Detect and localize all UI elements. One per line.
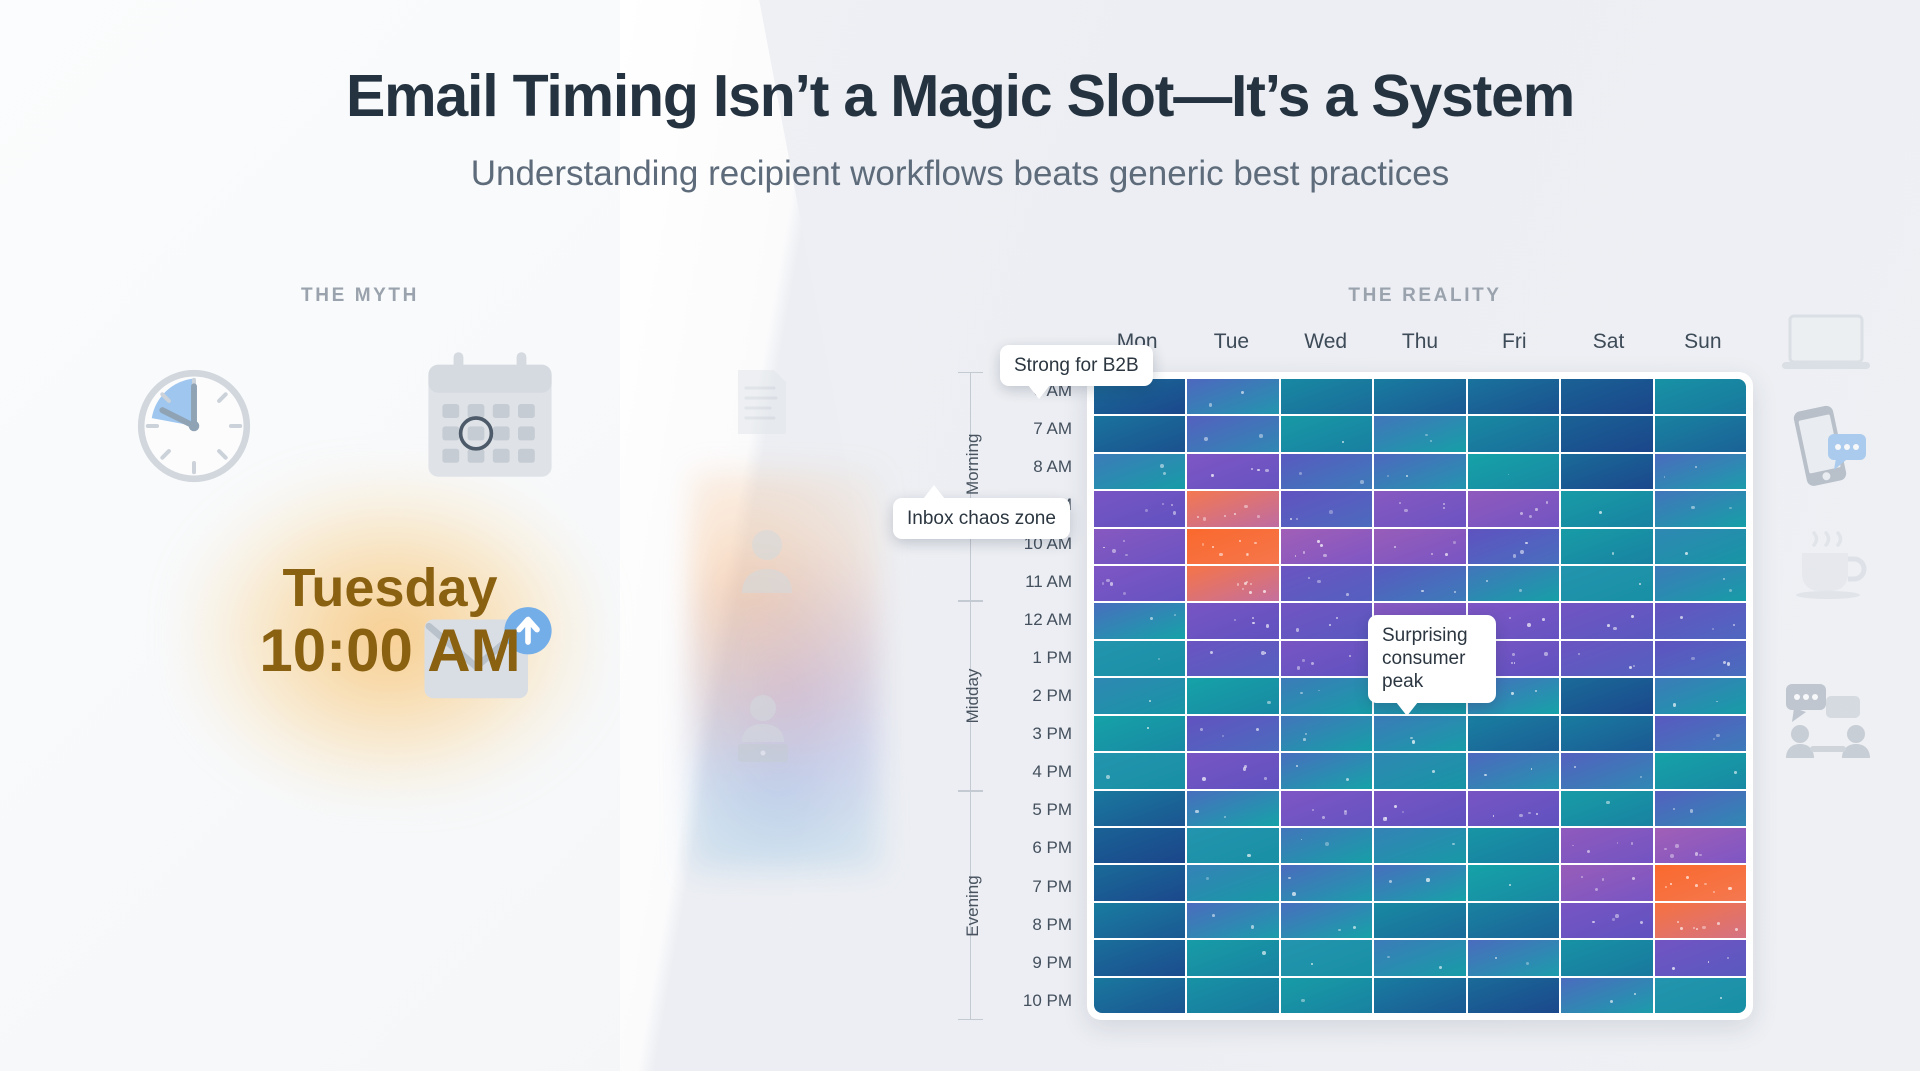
heatmap-speckle <box>1303 738 1306 741</box>
heatmap-day-label: Thu <box>1373 330 1467 354</box>
heatmap-speckle <box>1292 892 1296 896</box>
myth-panel: Tuesday 10:00 AM <box>60 360 720 920</box>
heatmap-speckle <box>1685 552 1688 555</box>
heatmap-cell[interactable] <box>1655 678 1746 713</box>
heatmap-cell[interactable] <box>1187 978 1278 1013</box>
heatmap-cell[interactable] <box>1561 978 1652 1013</box>
heatmap-speckle <box>1723 578 1725 580</box>
heatmap-cell[interactable] <box>1094 903 1185 938</box>
callout-strong-for-b2b[interactable]: Strong for B2B <box>1000 345 1153 386</box>
heatmap-speckle <box>1613 627 1616 630</box>
heatmap-cell[interactable] <box>1374 491 1465 526</box>
heatmap-cell[interactable] <box>1561 566 1652 601</box>
heatmap-cell[interactable] <box>1187 678 1278 713</box>
heatmap-speckle <box>1602 878 1605 881</box>
heatmap-speckle <box>1252 617 1254 619</box>
heatmap-speckle <box>1394 546 1396 548</box>
heatmap-speckle <box>1158 658 1160 660</box>
heatmap-speckle <box>1243 767 1246 770</box>
heatmap-cell[interactable] <box>1655 603 1746 638</box>
heatmap-cell[interactable] <box>1561 641 1652 676</box>
heatmap-speckle <box>1665 886 1667 888</box>
heatmap-speckle <box>1486 580 1488 582</box>
heatmap-speckle <box>1508 474 1510 476</box>
heatmap-cell[interactable] <box>1374 716 1465 751</box>
heatmap-speckle <box>1672 967 1675 970</box>
callout-pointer-icon <box>1028 385 1050 399</box>
heatmap-speckle <box>1387 956 1389 958</box>
heatmap-speckle <box>1712 628 1714 630</box>
heatmap-cell[interactable] <box>1187 641 1278 676</box>
heatmap-cell[interactable] <box>1468 940 1559 975</box>
heatmap-speckle <box>1297 666 1301 670</box>
heatmap-speckle <box>1629 666 1632 669</box>
heatmap-speckle <box>1704 883 1707 886</box>
heatmap-speckle <box>1173 511 1176 514</box>
heatmap-speckle <box>1695 852 1698 855</box>
heatmap-speckle <box>1323 554 1327 558</box>
callout-text: Surprising consumer peak <box>1382 625 1468 692</box>
heatmap-cell[interactable] <box>1468 416 1559 451</box>
heatmap-cell[interactable] <box>1468 828 1559 863</box>
heatmap-cell[interactable] <box>1561 491 1652 526</box>
heatmap-cell[interactable] <box>1655 529 1746 564</box>
heatmap-speckle <box>1495 957 1497 959</box>
heatmap-speckle <box>1514 662 1516 664</box>
heatmap-speckle <box>1210 651 1213 654</box>
heatmap-speckle <box>1431 553 1433 555</box>
heatmap-speckle <box>1123 592 1126 595</box>
heatmap-cell[interactable] <box>1094 529 1185 564</box>
heatmap-speckle <box>1536 813 1538 815</box>
heatmap-speckle <box>1527 623 1531 627</box>
heatmap-speckle <box>1535 508 1537 510</box>
heatmap-speckle <box>1219 553 1222 556</box>
person-at-desk-icon <box>730 690 796 768</box>
heatmap-cell[interactable] <box>1374 379 1465 414</box>
heatmap-cell[interactable] <box>1094 865 1185 900</box>
heatmap-cell[interactable] <box>1468 791 1559 826</box>
heatmap-speckle <box>1520 512 1523 515</box>
heatmap-cell[interactable] <box>1094 603 1185 638</box>
heatmap-speckle <box>1421 590 1424 593</box>
heatmap-cell[interactable] <box>1281 978 1372 1013</box>
heatmap-cell[interactable] <box>1187 828 1278 863</box>
heatmap-cell[interactable] <box>1187 865 1278 900</box>
heatmap-cell[interactable] <box>1187 753 1278 788</box>
heatmap-cell[interactable] <box>1561 940 1652 975</box>
heatmap-cell[interactable] <box>1281 379 1372 414</box>
heatmap-cell[interactable] <box>1094 678 1185 713</box>
heatmap-speckle <box>1529 515 1532 518</box>
heatmap-speckle <box>1102 582 1104 584</box>
heatmap-cell[interactable] <box>1374 791 1465 826</box>
heatmap-speckle <box>1717 922 1720 925</box>
heatmap-speckle <box>1610 1000 1613 1003</box>
heatmap-cell[interactable] <box>1281 753 1372 788</box>
heatmap-cell[interactable] <box>1655 753 1746 788</box>
heatmap-speckle <box>1224 515 1226 517</box>
heatmap-cell[interactable] <box>1094 753 1185 788</box>
heatmap-speckle <box>1318 690 1320 692</box>
heatmap-speckle <box>1631 615 1634 618</box>
heatmap-speckle <box>1249 591 1252 594</box>
heatmap-cell[interactable] <box>1468 753 1559 788</box>
heatmap-cell[interactable] <box>1561 716 1652 751</box>
heatmap-speckle <box>1702 926 1706 930</box>
heatmap-cell[interactable] <box>1281 716 1372 751</box>
person-icon <box>738 525 796 593</box>
heatmap-speckle <box>1262 951 1266 955</box>
heatmap-speckle <box>1454 591 1456 593</box>
heatmap-cell[interactable] <box>1655 828 1746 863</box>
heatmap-speckle <box>1670 854 1674 858</box>
heatmap-cell[interactable] <box>1094 791 1185 826</box>
heatmap-cell[interactable] <box>1561 903 1652 938</box>
heatmap-cell[interactable] <box>1468 865 1559 900</box>
heatmap-speckle <box>1344 811 1348 815</box>
heatmap-time-label: 2 PM <box>1032 686 1072 706</box>
coffee-cup-icon <box>1788 525 1874 601</box>
heatmap-speckle <box>1631 842 1634 845</box>
heatmap-speckle <box>1267 701 1271 705</box>
heatmap-cell[interactable] <box>1468 454 1559 489</box>
heatmap-cell[interactable] <box>1094 940 1185 975</box>
heatmap-cell[interactable] <box>1468 716 1559 751</box>
section-label-reality: THE REALITY <box>1245 285 1605 307</box>
heatmap-time-label: 6 PM <box>1032 838 1072 858</box>
heatmap-cell[interactable] <box>1655 379 1746 414</box>
heatmap-speckle <box>1680 927 1683 930</box>
heatmap-speckle <box>1147 727 1149 729</box>
heatmap-cell[interactable] <box>1094 566 1185 601</box>
heatmap-cell[interactable] <box>1468 491 1559 526</box>
heatmap-cell[interactable] <box>1281 454 1372 489</box>
heatmap-speckle <box>1606 801 1609 804</box>
heatmap-speckle <box>1677 921 1679 923</box>
heatmap-cell[interactable] <box>1281 491 1372 526</box>
heatmap-cell[interactable] <box>1655 903 1746 938</box>
heatmap-cell[interactable] <box>1094 828 1185 863</box>
heatmap-speckle <box>1171 504 1173 506</box>
heatmap-speckle <box>1670 883 1672 885</box>
heatmap-time-label: 10 PM <box>1023 991 1072 1011</box>
heatmap-cell[interactable] <box>1655 416 1746 451</box>
heatmap-speckle <box>1342 441 1344 443</box>
heatmap-speckle <box>1729 589 1732 592</box>
heatmap-cell[interactable] <box>1374 828 1465 863</box>
heatmap-speckle <box>1406 475 1408 477</box>
heatmap-day-label: Wed <box>1279 330 1373 354</box>
heatmap-cell[interactable] <box>1468 903 1559 938</box>
myth-statement: Tuesday 10:00 AM <box>60 560 720 683</box>
heatmap-speckle <box>1493 815 1495 817</box>
heatmap-cell[interactable] <box>1094 978 1185 1013</box>
heatmap-cell[interactable] <box>1374 865 1465 900</box>
heatmap-time-label: 7 AM <box>1033 419 1072 439</box>
heatmap-cell[interactable] <box>1094 716 1185 751</box>
heatmap-cell[interactable] <box>1468 566 1559 601</box>
heatmap-speckle <box>1727 957 1729 959</box>
heatmap-time-label: 5 PM <box>1032 800 1072 820</box>
heatmap-speckle <box>1632 877 1635 880</box>
heatmap-speckle <box>1404 509 1407 512</box>
myth-day-value: Tuesday <box>60 560 720 616</box>
callout-surprising-consumer-peak[interactable]: Surprising consumer peak <box>1368 615 1496 703</box>
heatmap-speckle <box>1338 929 1341 932</box>
heatmap-speckle <box>1303 551 1306 554</box>
heatmap-cell[interactable] <box>1187 791 1278 826</box>
heatmap-speckle <box>1708 961 1710 963</box>
heatmap-cell[interactable] <box>1561 529 1652 564</box>
heatmap-speckle <box>1673 808 1675 810</box>
heatmap-speckle <box>1531 768 1533 770</box>
heatmap-cell[interactable] <box>1655 865 1746 900</box>
heatmap-cell[interactable] <box>1561 603 1652 638</box>
heatmap-speckle <box>1110 582 1113 585</box>
heatmap-speckle <box>1259 434 1262 437</box>
heatmap-time-label: 4 PM <box>1032 762 1072 782</box>
heatmap-day-label: Fri <box>1467 330 1561 354</box>
heatmap-speckle <box>1383 817 1386 820</box>
heatmap-cell[interactable] <box>1281 603 1372 638</box>
heatmap-speckle <box>1733 624 1735 626</box>
meeting-icon <box>1780 680 1876 760</box>
heatmap-speckle <box>1123 540 1125 542</box>
heatmap-cell[interactable] <box>1655 716 1746 751</box>
heatmap-cell[interactable] <box>1374 454 1465 489</box>
heatmap-cell[interactable] <box>1281 865 1372 900</box>
heatmap-cell[interactable] <box>1187 454 1278 489</box>
heatmap-speckle <box>1713 738 1715 740</box>
heatmap-speckle <box>1329 510 1333 514</box>
heatmap-cell[interactable] <box>1094 454 1185 489</box>
heatmap-speckle <box>1300 692 1302 694</box>
heatmap-speckle <box>1587 850 1590 853</box>
heatmap-cell[interactable] <box>1374 940 1465 975</box>
heatmap-speckle <box>1432 770 1435 773</box>
heatmap-speckle <box>1713 891 1715 893</box>
heatmap-cell[interactable] <box>1655 491 1746 526</box>
heatmap-cell[interactable] <box>1561 454 1652 489</box>
heatmap-speckle <box>1526 962 1529 965</box>
heatmap-speckle <box>1452 843 1455 846</box>
heatmap-time-label: 11 AM <box>1025 572 1072 592</box>
heatmap-cell[interactable] <box>1561 791 1652 826</box>
heatmap-speckle <box>1528 812 1531 815</box>
heatmap-speckle <box>1203 517 1206 520</box>
heatmap-cell[interactable] <box>1094 416 1185 451</box>
heatmap-speckle <box>1387 475 1389 477</box>
heatmap-cell[interactable] <box>1655 641 1746 676</box>
heatmap-cell[interactable] <box>1374 753 1465 788</box>
heatmap-cell[interactable] <box>1561 828 1652 863</box>
heatmap-speckle <box>1336 617 1338 619</box>
heatmap-speckle <box>1542 618 1545 621</box>
heatmap-speckle <box>1690 809 1694 813</box>
heatmap-speckle <box>1735 928 1738 931</box>
heatmap-speckle <box>1581 876 1583 878</box>
heatmap-cell[interactable] <box>1281 903 1372 938</box>
heatmap-cell[interactable] <box>1281 940 1372 975</box>
heatmap-cell[interactable] <box>1281 566 1372 601</box>
heatmap-speckle <box>1197 516 1199 518</box>
heatmap-speckle <box>1640 776 1642 778</box>
heatmap-cell[interactable] <box>1187 940 1278 975</box>
heatmap-cell[interactable] <box>1561 416 1652 451</box>
heatmap-speckle <box>1174 614 1176 616</box>
heatmap-time-label: 12 AM <box>1024 610 1072 630</box>
heatmap-cell[interactable] <box>1281 416 1372 451</box>
heatmap-cell[interactable] <box>1094 491 1185 526</box>
heatmap-speckle <box>1311 662 1314 665</box>
heatmap-speckle <box>1612 918 1615 921</box>
heatmap-cell[interactable] <box>1374 566 1465 601</box>
heatmap-speckle <box>1426 878 1429 881</box>
heatmap-speckle <box>1320 544 1323 547</box>
heatmap-speckle <box>1512 653 1515 656</box>
heatmap-speckle <box>1716 701 1718 703</box>
heatmap-speckle <box>1546 501 1549 504</box>
heatmap-cell[interactable] <box>1374 529 1465 564</box>
page-subtitle: Understanding recipient workflows beats … <box>0 154 1920 194</box>
heatmap-speckle <box>1206 877 1209 880</box>
heatmap-speckle <box>1237 583 1239 585</box>
heatmap-speckle <box>1296 518 1298 520</box>
heatmap-speckle <box>1103 547 1105 549</box>
heatmap-cell[interactable] <box>1281 529 1372 564</box>
heatmap-speckle <box>1664 848 1666 850</box>
heatmap-speckle <box>1222 735 1224 737</box>
heatmap-cell[interactable] <box>1561 865 1652 900</box>
heatmap-speckle <box>1296 765 1298 767</box>
heatmap-speckle <box>1244 582 1247 585</box>
heatmap-speckle <box>1680 616 1683 619</box>
clock-icon <box>128 360 260 492</box>
heatmap-speckle <box>1716 734 1719 737</box>
heatmap-speckle <box>1439 966 1442 969</box>
heatmap-speckle <box>1329 624 1331 626</box>
heatmap-time-label: 8 AM <box>1033 457 1072 477</box>
heatmap-cell[interactable] <box>1187 416 1278 451</box>
callout-inbox-chaos-zone[interactable]: Inbox chaos zone <box>893 498 1070 539</box>
heatmap-cell[interactable] <box>1561 379 1652 414</box>
heatmap-speckle <box>1247 854 1251 858</box>
heatmap-cell[interactable] <box>1655 566 1746 601</box>
heatmap-speckle <box>1640 921 1643 924</box>
heatmap-speckle <box>1312 809 1314 811</box>
heatmap-speckle <box>1317 540 1319 542</box>
heatmap-cell[interactable] <box>1281 641 1372 676</box>
heatmap-speckle <box>1257 515 1260 518</box>
heatmap-cell[interactable] <box>1561 753 1652 788</box>
heatmap-cell[interactable] <box>1281 678 1372 713</box>
heatmap-speckle <box>1634 993 1636 995</box>
heatmap-cell[interactable] <box>1468 379 1559 414</box>
heatmap-cell[interactable] <box>1187 529 1278 564</box>
heatmap-time-label: 1 PM <box>1032 648 1072 668</box>
heatmap-speckle <box>1308 577 1310 579</box>
heatmap-speckle <box>1453 541 1456 544</box>
heatmap-cell[interactable] <box>1374 903 1465 938</box>
heatmap-cell[interactable] <box>1094 641 1185 676</box>
heatmap-cell[interactable] <box>1281 791 1372 826</box>
heatmap-speckle <box>1239 540 1241 542</box>
heatmap-speckle <box>1509 617 1511 619</box>
callout-text: Strong for B2B <box>1014 355 1139 376</box>
heatmap-speckle <box>1160 464 1164 468</box>
heatmap-speckle <box>1691 506 1694 509</box>
heatmap-speckle <box>1389 880 1392 883</box>
document-icon <box>732 366 792 438</box>
heatmap-speckle <box>1252 622 1255 625</box>
heatmap-speckle <box>1125 554 1127 556</box>
heatmap-speckle <box>1234 513 1236 515</box>
heatmap-speckle <box>1244 505 1247 508</box>
heatmap-cell[interactable] <box>1374 978 1465 1013</box>
heatmap-speckle <box>1425 434 1428 437</box>
page-title: Email Timing Isn’t a Magic Slot—It’s a S… <box>0 62 1920 130</box>
heatmap-cell[interactable] <box>1655 791 1746 826</box>
page-header: Email Timing Isn’t a Magic Slot—It’s a S… <box>0 0 1920 194</box>
callout-pointer-icon <box>923 485 945 499</box>
heatmap-cell[interactable] <box>1187 603 1278 638</box>
heatmap-speckle <box>1209 403 1213 407</box>
heatmap-cell[interactable] <box>1281 828 1372 863</box>
heatmap-cell[interactable] <box>1187 716 1278 751</box>
heatmap-time-label: 7 PM <box>1032 877 1072 897</box>
heatmap-cell[interactable] <box>1187 566 1278 601</box>
heatmap-cell[interactable] <box>1561 678 1652 713</box>
heatmap-cell[interactable] <box>1655 454 1746 489</box>
heatmap-cell[interactable] <box>1468 529 1559 564</box>
heatmap-cell[interactable] <box>1655 978 1746 1013</box>
heatmap-speckle <box>1224 816 1226 818</box>
heatmap-speckle <box>1410 737 1412 739</box>
heatmap-speckle <box>1256 728 1259 731</box>
heatmap-speckle <box>1513 554 1517 558</box>
heatmap-speckle <box>1202 777 1206 781</box>
heatmap-cell[interactable] <box>1468 978 1559 1013</box>
heatmap-time-label: 9 PM <box>1032 953 1072 973</box>
heatmap-cell[interactable] <box>1187 491 1278 526</box>
heatmap-speckle <box>1544 652 1547 655</box>
heatmap-speckle <box>1394 805 1397 808</box>
heatmap-speckle <box>1525 542 1528 545</box>
heatmap-cell[interactable] <box>1187 903 1278 938</box>
heatmap-speckle <box>1265 652 1267 654</box>
heatmap-speckle <box>1696 928 1698 930</box>
myth-time-value: 10:00 AM <box>60 620 720 682</box>
heatmap-speckle <box>1723 661 1726 664</box>
heatmap-speckle <box>1301 839 1303 841</box>
heatmap-cell[interactable] <box>1187 379 1278 414</box>
heatmap-speckle <box>1162 503 1164 505</box>
calendar-icon <box>420 348 560 488</box>
heatmap-speckle <box>1305 733 1307 735</box>
heatmap-time-axis: 6 AM7 AM8 AM9 AM10 AM11 AM12 AM1 PM2 PM3… <box>980 372 1080 1020</box>
heatmap-speckle <box>1443 503 1446 506</box>
heatmap-speckle <box>1673 703 1677 707</box>
heatmap-speckle <box>1200 728 1203 731</box>
heatmap-speckle <box>1399 502 1401 504</box>
heatmap-cell[interactable] <box>1655 940 1746 975</box>
heatmap-cell[interactable] <box>1374 416 1465 451</box>
heatmap-speckle <box>1353 926 1356 929</box>
heatmap-speckle <box>1574 766 1576 768</box>
heatmap-day-label: Sat <box>1561 330 1655 354</box>
heatmap-speckle <box>1599 511 1602 514</box>
